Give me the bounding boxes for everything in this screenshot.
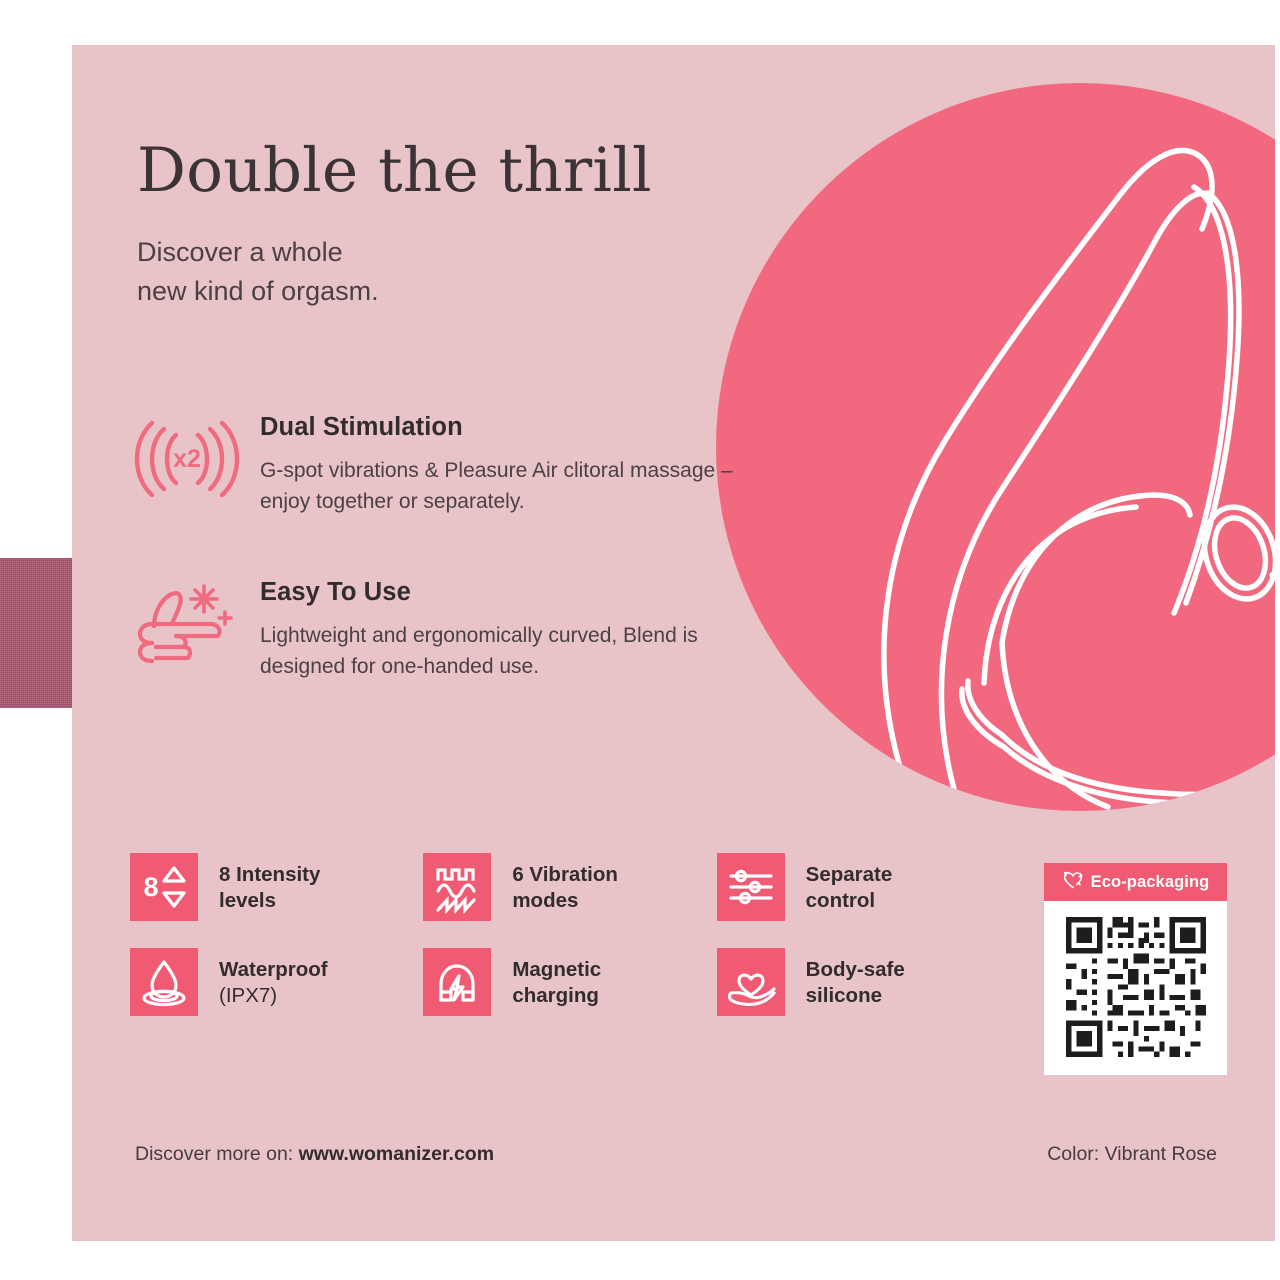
feature-text: Lightweight and ergonomically curved, Bl… xyxy=(260,621,752,683)
spec-label: 6 Vibration modes xyxy=(512,853,618,914)
spec-line-1: 8 Intensity xyxy=(219,863,320,886)
spec-line-2: levels xyxy=(219,889,276,912)
vibration-modes-waveform-icon xyxy=(423,853,491,921)
eco-packaging-label: Eco-packaging xyxy=(1091,873,1210,892)
spec-line-1: Magnetic xyxy=(512,958,601,981)
footer-color-label: Color: Vibrant Rose xyxy=(1047,1143,1217,1166)
spec-grid: 8 8 Intensity levels xyxy=(130,853,1010,1043)
hand-heart-body-safe-icon xyxy=(717,948,785,1016)
spec-label: Waterproof (IPX7) xyxy=(219,948,328,1009)
page-subtitle: Discover a whole new kind of orgasm. xyxy=(137,233,379,312)
feature-text: G-spot vibrations & Pleasure Air clitora… xyxy=(260,456,752,518)
spec-line-2: charging xyxy=(512,984,599,1007)
feature-title: Dual Stimulation xyxy=(260,413,752,442)
spec-row: 8 8 Intensity levels xyxy=(130,853,1010,921)
sliders-separate-control-icon xyxy=(717,853,785,921)
spec-label: Magnetic charging xyxy=(512,948,601,1009)
feature-title: Easy To Use xyxy=(260,578,752,607)
hero-illustration-circle xyxy=(716,83,1275,811)
feature-easy-to-use: Easy To Use Lightweight and ergonomicall… xyxy=(132,578,752,683)
box-face: Double the thrill Discover a whole new k… xyxy=(72,45,1275,1241)
spec-line-2: silicone xyxy=(806,984,882,1007)
spec-body-safe-silicone: Body-safe silicone xyxy=(717,948,1010,1016)
spec-line-1: Waterproof xyxy=(219,958,328,981)
spec-row: Waterproof (IPX7) xyxy=(130,948,1010,1016)
spec-line-2: (IPX7) xyxy=(219,984,277,1007)
magnet-charging-icon xyxy=(423,948,491,1016)
spec-separate-control: Separate control xyxy=(717,853,1010,921)
spec-label: Body-safe silicone xyxy=(806,948,905,1009)
page-title: Double the thrill xyxy=(137,135,652,206)
spec-waterproof: Waterproof (IPX7) xyxy=(130,948,423,1016)
spec-line-1: 6 Vibration xyxy=(512,863,618,886)
footer-discover-more: Discover more on: www.womanizer.com xyxy=(135,1143,494,1166)
eco-packaging-block: Eco-packaging xyxy=(1044,863,1227,1075)
spec-line-2: control xyxy=(806,889,875,912)
line-art-woman-with-device xyxy=(716,83,1275,811)
spec-vibration-modes: 6 Vibration modes xyxy=(423,853,716,921)
thumbs-up-sparkle-icon xyxy=(132,578,242,670)
waterproof-droplet-icon xyxy=(130,948,198,1016)
feature-dual-stimulation: x2 Dual Stimulation G-spot vibrations & … xyxy=(132,413,752,518)
spec-line-1: Body-safe xyxy=(806,958,905,981)
intensity-levels-icon: 8 xyxy=(130,853,198,921)
qr-code[interactable] xyxy=(1044,901,1227,1075)
spec-label: 8 Intensity levels xyxy=(219,853,320,914)
footer-discover-prefix: Discover more on: xyxy=(135,1143,299,1165)
heart-recycle-icon xyxy=(1062,870,1084,895)
packaging-back-panel: Double the thrill Discover a whole new k… xyxy=(0,0,1280,1280)
footer-website[interactable]: www.womanizer.com xyxy=(299,1143,494,1165)
spec-line-2: modes xyxy=(512,889,578,912)
svg-text:x2: x2 xyxy=(173,445,201,473)
eco-packaging-header: Eco-packaging xyxy=(1044,863,1227,901)
spec-intensity-levels: 8 8 Intensity levels xyxy=(130,853,423,921)
vibration-waves-x2-icon: x2 xyxy=(132,413,242,505)
spec-label: Separate control xyxy=(806,853,893,914)
svg-text:8: 8 xyxy=(143,872,158,902)
spec-line-1: Separate xyxy=(806,863,893,886)
spec-magnetic-charging: Magnetic charging xyxy=(423,948,716,1016)
side-ribbon-tab xyxy=(0,558,76,708)
